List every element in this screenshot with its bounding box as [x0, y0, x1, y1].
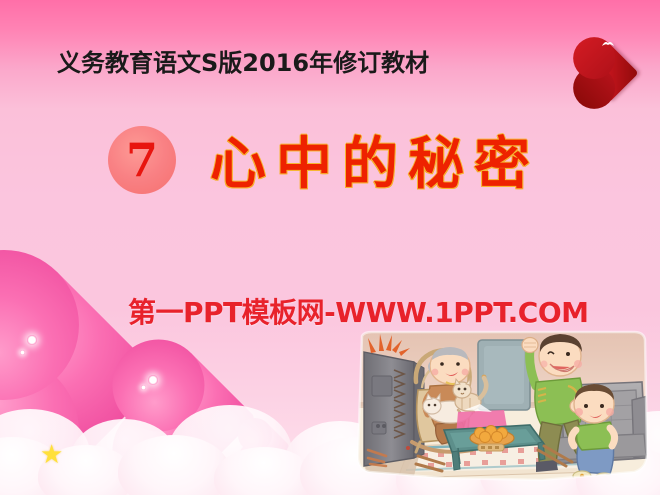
- slide-canvas: ★ 义务教育语文S版2016年修订教材 7 心中的秘密 第一PPT模板网-WWW…: [0, 0, 660, 495]
- lesson-number-badge: 7: [108, 126, 176, 194]
- page-title: 心中的秘密: [210, 119, 540, 200]
- illustration-svg: [352, 330, 652, 485]
- heart-emblem-decoration: [570, 30, 660, 110]
- dark-red-heart-icon: [579, 43, 638, 102]
- title-row: 7 心中的秘密: [108, 119, 540, 200]
- page-subtitle: 义务教育语文S版2016年修订教材: [57, 43, 429, 78]
- sparkle-2-icon: [20, 350, 25, 355]
- sparkle-1-icon: [27, 335, 37, 345]
- living-room-illustration: [352, 330, 652, 485]
- emblem-sparkle-icon: [602, 39, 614, 47]
- watermark-text: 第一PPT模板网-WWW.1PPT.COM: [128, 291, 589, 331]
